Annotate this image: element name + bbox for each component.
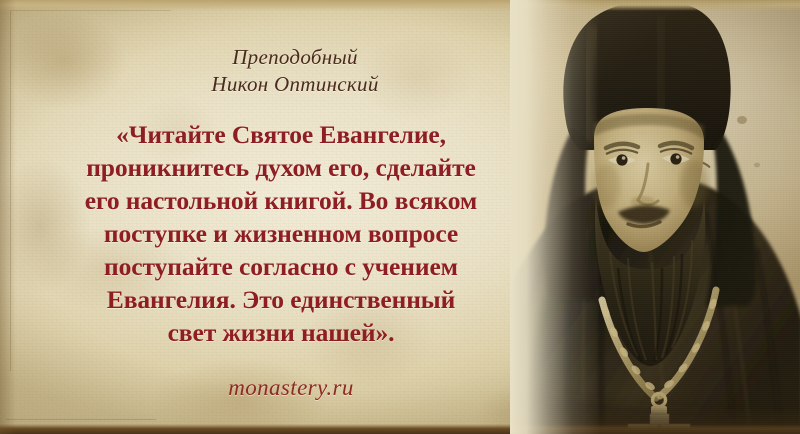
- quote-line: «Читайте Святое Евангелие,: [18, 118, 544, 151]
- attribution-block: Преподобный Никон Оптинский: [0, 44, 560, 98]
- quote-line: поступайте согласно с учением: [18, 250, 544, 283]
- quote-text: «Читайте Святое Евангелие, проникнитесь …: [18, 118, 544, 349]
- quote-line: Евангелия. Это единственный: [18, 283, 544, 316]
- quote-card: Преподобный Никон Оптинский «Читайте Свя…: [0, 0, 800, 434]
- attribution-line-1: Преподобный: [30, 44, 560, 71]
- site-watermark: monastery.ru: [0, 375, 560, 401]
- quote-line: свет жизни нашей».: [18, 316, 544, 349]
- text-column: Преподобный Никон Оптинский «Читайте Свя…: [0, 0, 560, 434]
- quote-line: его настольной книгой. Во всяком: [18, 184, 544, 217]
- quote-line: проникнитесь духом его, сделайте: [18, 151, 544, 184]
- quote-line: поступке и жизненном вопросе: [18, 217, 544, 250]
- attribution-line-2: Никон Оптинский: [30, 71, 560, 98]
